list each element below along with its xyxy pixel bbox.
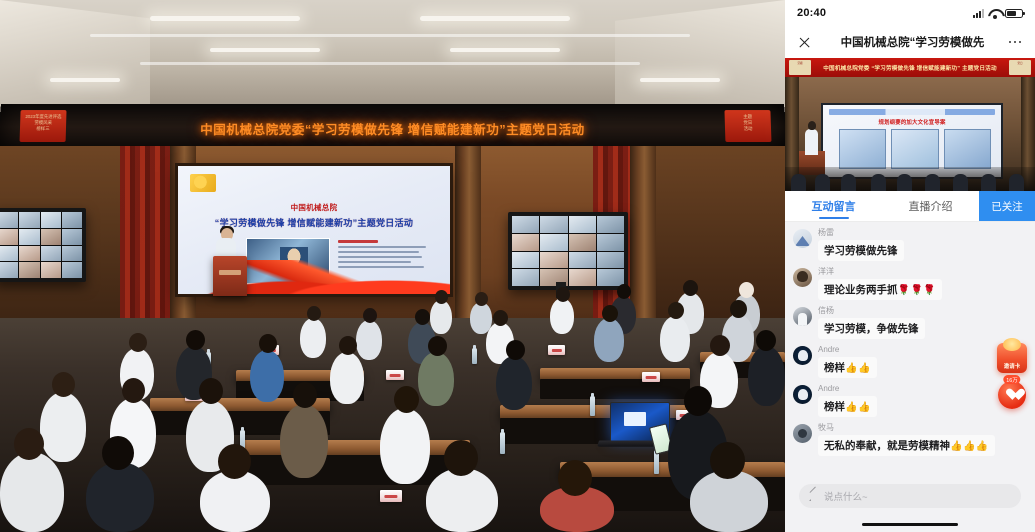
avatar[interactable]: [793, 424, 812, 443]
audience-person: [550, 298, 574, 334]
comment-input-bar: 说点什么~: [785, 476, 1035, 532]
name-placard: [642, 372, 660, 382]
audience-head: [756, 330, 776, 351]
slide-diagram-cell: [891, 129, 938, 169]
tab-live-intro[interactable]: 直播介绍: [882, 191, 979, 221]
video-badge-left: 劳模: [789, 60, 811, 75]
audience-person: [660, 316, 690, 362]
audience-head: [739, 282, 754, 298]
desk-row: [500, 405, 700, 419]
audience-person: [200, 470, 270, 532]
slide-title: 规划纲要的加大文化宣导案: [823, 118, 1001, 126]
audience-head: [506, 340, 525, 360]
chat-emoji: 👍👍: [845, 402, 871, 413]
slide-diagram-cell: [839, 129, 886, 169]
floating-action-buttons: 邀请卡 16万: [997, 343, 1027, 409]
tab-interactive-comments[interactable]: 互动留言: [785, 191, 882, 221]
ceiling-light: [640, 78, 720, 82]
name-placard: [548, 345, 565, 355]
party-emblem-icon: [190, 174, 216, 192]
chat-username: 信杨: [818, 307, 925, 315]
wifi-icon: [988, 8, 1001, 18]
audience-head: [122, 378, 145, 403]
audience-person: [330, 352, 364, 404]
desk-row: [240, 440, 470, 456]
banner-badge-right: 主题党日活动: [724, 110, 771, 142]
audience-person: [250, 350, 284, 402]
chat-message: 洋洋 理论业务两手抓🌹🌹🌹: [793, 268, 1025, 300]
audience-head: [394, 386, 419, 413]
video-speaker: [805, 129, 818, 155]
chat-username: 杨雷: [818, 229, 904, 237]
chat-bubble: 榜样👍👍: [818, 357, 877, 378]
chat-message: 杨雷 学习劳模做先锋: [793, 229, 1025, 261]
video-banner: 中国机械总院党委 “学习劳模做先锋 增信赋能建新功” 主题党日活动: [785, 58, 1035, 77]
avatar[interactable]: [793, 307, 812, 326]
audience-person: [426, 468, 498, 532]
chat-message: 信杨 学习劳模，争做先锋: [793, 307, 1025, 339]
audience-person: [496, 356, 532, 410]
avatar[interactable]: [793, 268, 812, 287]
chat-emoji: 👍👍: [845, 363, 871, 374]
audience-head: [14, 428, 44, 460]
chat-username: Andre: [818, 385, 877, 393]
wall-column: [630, 146, 656, 326]
audience-person: [280, 404, 328, 478]
led-banner-text: 中国机械总院党委“学习劳模做先锋 增信赋能建新功”主题党日活动: [200, 119, 585, 138]
chat-text: 理论业务两手抓: [824, 284, 898, 296]
more-options-icon[interactable]: [1007, 41, 1023, 44]
water-bottle: [500, 432, 505, 454]
audience-person: [300, 318, 326, 358]
comment-placeholder: 说点什么~: [824, 489, 868, 503]
chat-emoji: 👍👍👍: [950, 441, 989, 452]
audience-head: [435, 290, 448, 304]
ceiling-light: [210, 48, 320, 52]
audience-person: [594, 318, 624, 362]
video-banner-text: 中国机械总院党委 “学习劳模做先锋 增信赋能建新功” 主题党日活动: [823, 64, 996, 72]
video-hall-scene: 规划纲要的加大文化宣导案: [785, 77, 1035, 191]
chat-emoji: 🌹🌹🌹: [898, 285, 937, 296]
ceiling-light: [420, 16, 570, 21]
audience-head: [102, 436, 134, 470]
home-indicator: [862, 523, 958, 527]
chat-message: Andre 榜样👍👍: [793, 346, 1025, 378]
audience-head: [617, 284, 631, 299]
audience-head: [444, 440, 478, 476]
live-video-player[interactable]: 中国机械总院党委 “学习劳模做先锋 增信赋能建新功” 主题党日活动 劳模 党日 …: [785, 58, 1035, 191]
chat-text: 学习劳模，争做先锋: [824, 323, 919, 335]
ceiling-light: [450, 48, 560, 52]
audience-head: [259, 334, 277, 353]
slide-diagram-grid: [839, 129, 991, 169]
projection-title-line1: 中国机械总院: [178, 202, 450, 213]
audience-head: [186, 330, 205, 350]
audience-person: [86, 462, 154, 532]
ceiling-beam: [90, 34, 690, 37]
audience-person: [418, 352, 454, 406]
audience-head: [339, 336, 357, 355]
audience-head: [493, 310, 508, 326]
audience-head: [730, 300, 747, 318]
name-placard: [386, 370, 404, 380]
audience-head: [556, 287, 570, 302]
audience-head: [558, 460, 592, 496]
page-title: 中国机械总院“学习劳模做先: [820, 34, 999, 50]
projection-title-line2: “学习劳模做先锋 增信赋能建新功”主题党日活动: [178, 216, 450, 229]
audience-person: [356, 320, 382, 360]
video-wall-right: [508, 212, 628, 290]
slide-header-bar: [829, 109, 995, 115]
audience-head: [199, 378, 223, 404]
invite-card-label: 邀请卡: [1004, 362, 1020, 370]
avatar[interactable]: [793, 229, 812, 248]
audience-head: [668, 302, 684, 319]
chat-username: 洋洋: [818, 268, 942, 276]
audience-person: [380, 408, 430, 484]
audience-head: [710, 335, 730, 356]
status-icons: [973, 8, 1023, 18]
chat-text: 无私的奉献，就是劳模精神: [824, 440, 950, 452]
avatar[interactable]: [793, 385, 812, 404]
chat-bubble: 理论业务两手抓🌹🌹🌹: [818, 279, 942, 300]
status-time: 20:40: [797, 7, 826, 19]
audience-person: [0, 452, 64, 532]
ceiling-beam: [140, 62, 640, 65]
like-count: 16万: [1003, 375, 1020, 384]
curtain-left: [120, 146, 172, 326]
chat-username: 牧马: [818, 424, 995, 432]
video-audience: [785, 167, 1035, 191]
signal-bars-icon: [973, 9, 984, 18]
audience-person: [690, 470, 768, 532]
chat-bubble: 学习劳模，争做先锋: [818, 318, 925, 339]
lectern: [213, 256, 247, 296]
audience-person: [430, 300, 452, 334]
water-bottle: [472, 348, 477, 364]
nav-bar: 中国机械总院“学习劳模做先: [785, 26, 1035, 58]
ceiling: [0, 0, 785, 112]
pencil-icon: [809, 491, 819, 501]
audience-head: [428, 336, 447, 356]
heart-icon: [1006, 389, 1019, 401]
battery-icon: [1005, 9, 1023, 18]
slide-diagram-cell: [944, 129, 991, 169]
comment-input[interactable]: 说点什么~: [799, 484, 1021, 508]
ceiling-light: [50, 78, 120, 82]
name-placard: [380, 490, 402, 502]
chat-message: Andre 榜样👍👍: [793, 385, 1025, 417]
follow-button[interactable]: 已关注: [979, 191, 1035, 221]
ceiling-light: [150, 16, 300, 21]
wall-panel-right: [635, 146, 785, 326]
audience-head: [129, 333, 147, 352]
audience-head: [710, 442, 745, 479]
avatar[interactable]: [793, 346, 812, 365]
led-banner: 2023年度先进评选劳模风采榜样三 中国机械总院党委“学习劳模做先锋 增信赋能建…: [0, 104, 785, 152]
chat-bubble: 榜样👍👍: [818, 396, 877, 417]
status-bar: 20:40: [785, 0, 1035, 26]
like-button[interactable]: 16万: [998, 381, 1026, 409]
audience-person: [40, 392, 86, 462]
audience-head: [293, 382, 317, 408]
chat-text: 榜样: [824, 401, 845, 413]
conference-hall-photo: 2023年度先进评选劳模风采榜样三 中国机械总院党委“学习劳模做先锋 增信赋能建…: [0, 0, 785, 532]
desk-front: [540, 379, 690, 399]
audience-head: [52, 372, 75, 397]
water-bottle: [590, 396, 595, 416]
chat-text: 榜样: [824, 362, 845, 374]
audience-head: [415, 309, 430, 325]
audience-head: [475, 292, 488, 306]
chat-text: 学习劳模做先锋: [824, 245, 898, 257]
chat-username: Andre: [818, 346, 877, 354]
close-icon[interactable]: [797, 35, 812, 50]
chat-bubble: 学习劳模做先锋: [818, 240, 904, 261]
audience-head: [602, 305, 618, 322]
phone-livestream-panel: 20:40 中国机械总院“学习劳模做先 中国机械总院党委 “学习劳模做先锋 增信…: [785, 0, 1035, 532]
banner-badge-left: 2023年度先进评选劳模风采榜样三: [20, 110, 67, 142]
chat-message-list[interactable]: 杨雷 学习劳模做先锋 洋洋 理论业务两手抓🌹🌹🌹 信杨 学习劳模，争做先锋: [785, 222, 1035, 467]
audience-head: [363, 308, 377, 323]
audience-head: [684, 386, 712, 416]
audience-head: [218, 444, 251, 479]
invite-card-button[interactable]: 邀请卡: [997, 343, 1027, 373]
tab-bar: 互动留言 直播介绍 已关注: [785, 191, 1035, 222]
audience-head: [307, 306, 321, 321]
audience-person: [748, 346, 785, 406]
chat-bubble: 无私的奉献，就是劳模精神👍👍👍: [818, 435, 995, 456]
audience-head: [683, 280, 698, 296]
video-badge-right: 党日: [1009, 60, 1031, 75]
chat-message: 牧马 无私的奉献，就是劳模精神👍👍👍: [793, 424, 1025, 456]
video-wall-left: [0, 208, 86, 282]
